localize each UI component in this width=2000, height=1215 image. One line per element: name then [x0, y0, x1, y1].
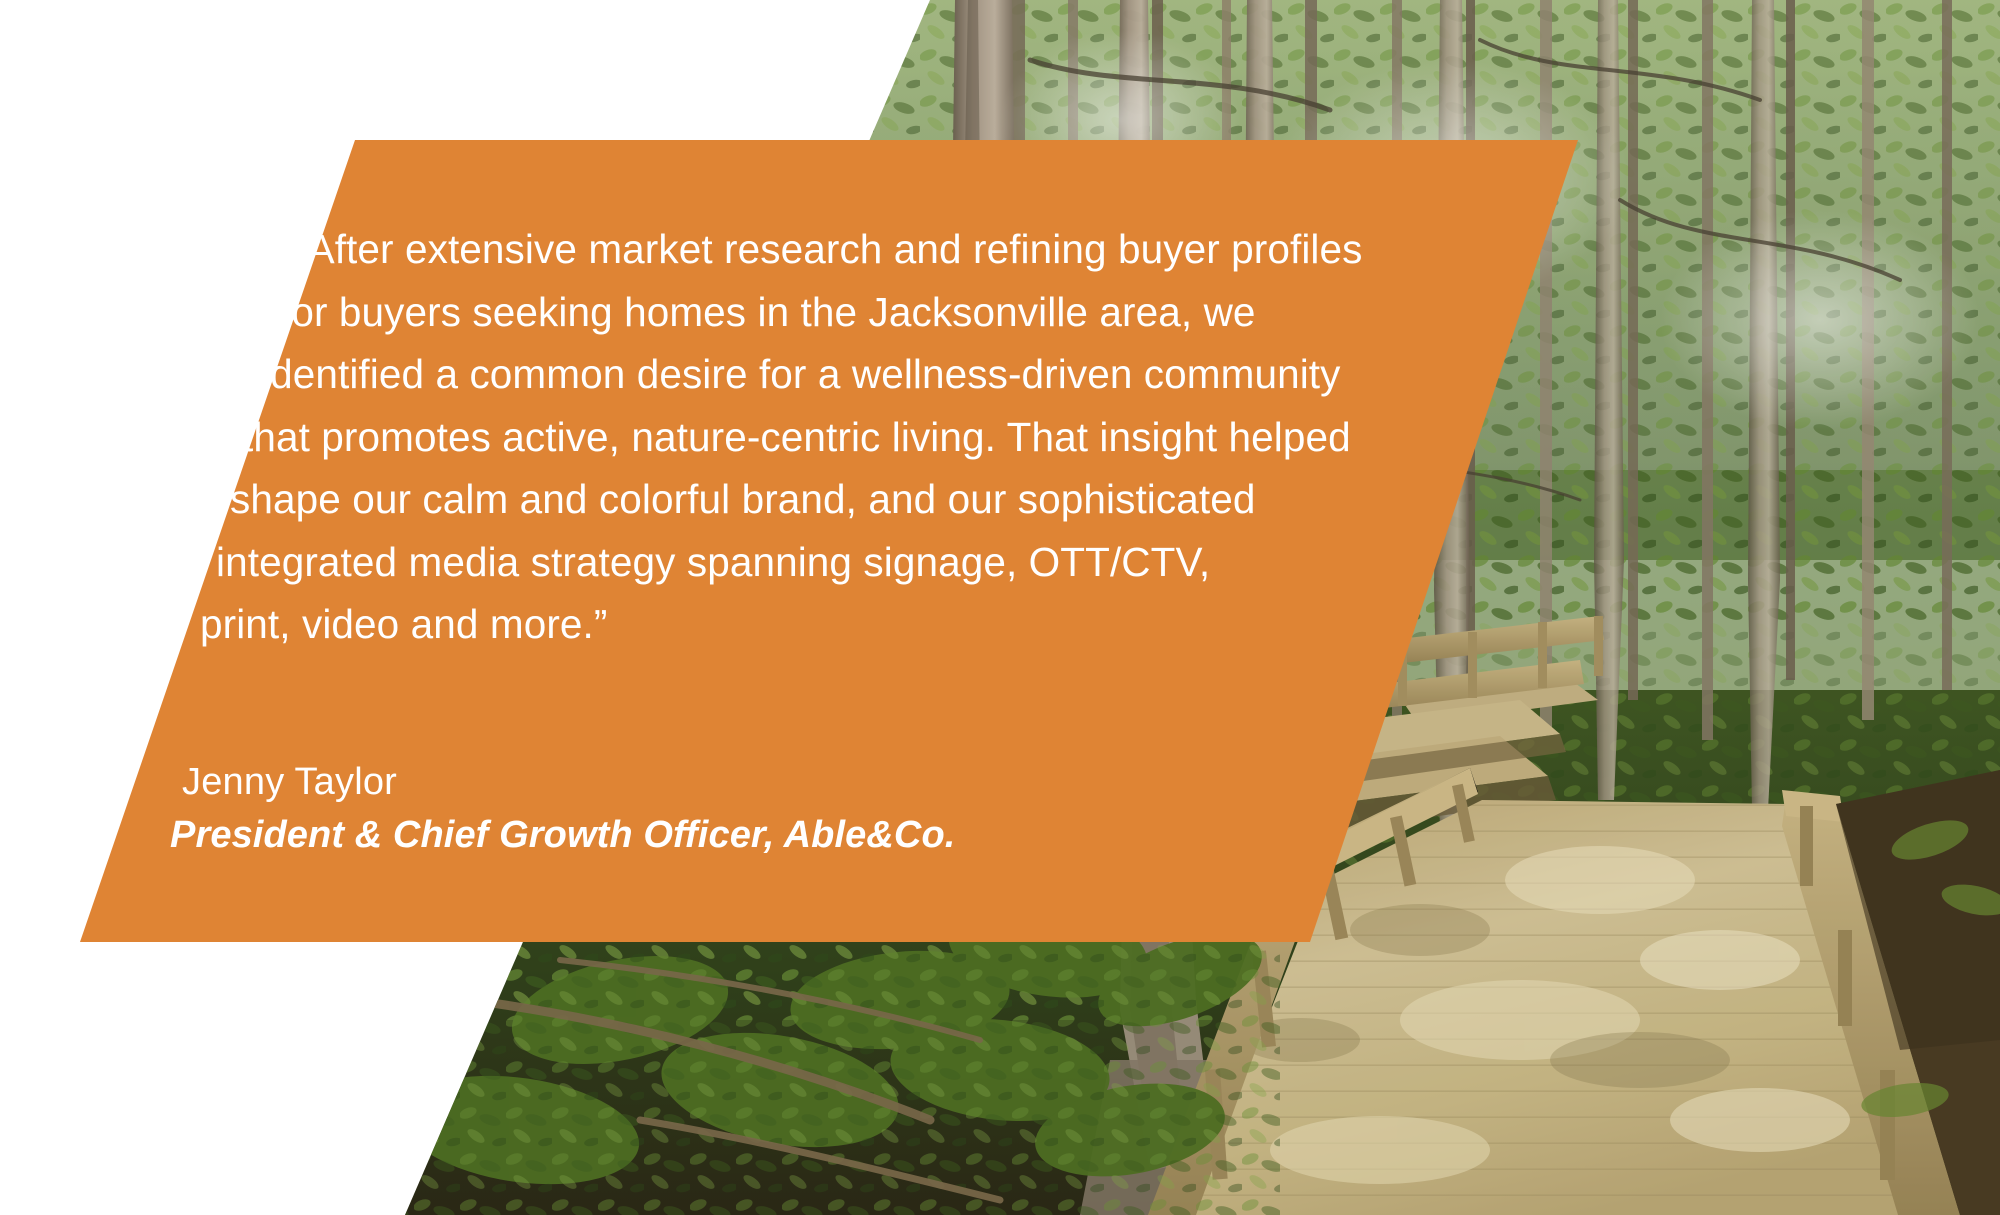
quote-line-5: shape our calm and colorful brand, and o… — [230, 468, 1208, 531]
quote-line-1: “After extensive market research and ref… — [248, 218, 1208, 281]
attribution-role: President & Chief Growth Officer, Able&C… — [170, 808, 955, 862]
testimonial-quote: “After extensive market research and ref… — [248, 218, 1208, 656]
quote-line-3: identified a common desire for a wellnes… — [248, 343, 1208, 406]
testimonial-slide: “After extensive market research and ref… — [0, 0, 2000, 1215]
attribution: Jenny Taylor President & Chief Growth Of… — [170, 756, 955, 862]
attribution-name: Jenny Taylor — [170, 756, 955, 808]
quote-line-4: that promotes active, nature-centric liv… — [242, 406, 1208, 469]
quote-line-6: integrated media strategy spanning signa… — [216, 531, 1208, 594]
quote-line-7: print, video and more.” — [200, 593, 1208, 656]
quote-line-2: for buyers seeking homes in the Jacksonv… — [248, 281, 1208, 344]
